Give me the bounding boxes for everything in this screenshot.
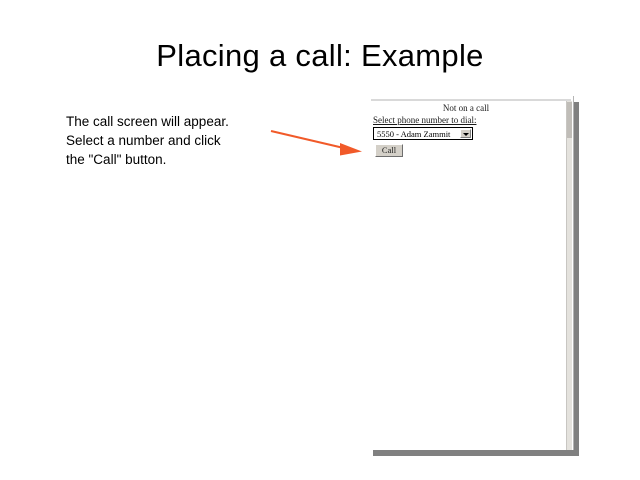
panel-top-divider xyxy=(371,99,571,101)
chevron-down-icon xyxy=(463,133,469,136)
call-status-text: Not on a call xyxy=(371,103,561,113)
page-title: Placing a call: Example xyxy=(0,38,640,74)
phone-number-selected-value: 5550 - Adam Zammit xyxy=(377,129,450,140)
call-screen-panel: Not on a call Select phone number to dia… xyxy=(371,96,574,450)
body-text-line-2: Select a number and click xyxy=(66,131,266,150)
body-text-line-1: The call screen will appear. xyxy=(66,112,266,131)
vertical-scrollbar[interactable] xyxy=(566,101,572,450)
arrow-pointing-right-icon xyxy=(262,122,374,158)
embedded-app-screenshot: Not on a call Select phone number to dia… xyxy=(371,96,573,450)
call-button[interactable]: Call xyxy=(375,144,403,157)
body-text-line-3: the "Call" button. xyxy=(66,150,266,169)
select-dropdown-button[interactable] xyxy=(460,129,471,138)
scrollbar-thumb[interactable] xyxy=(567,102,572,138)
phone-number-label: Select phone number to dial: xyxy=(373,115,476,125)
phone-number-select[interactable]: 5550 - Adam Zammit xyxy=(373,127,473,140)
slide-body-text: The call screen will appear. Select a nu… xyxy=(66,112,266,169)
